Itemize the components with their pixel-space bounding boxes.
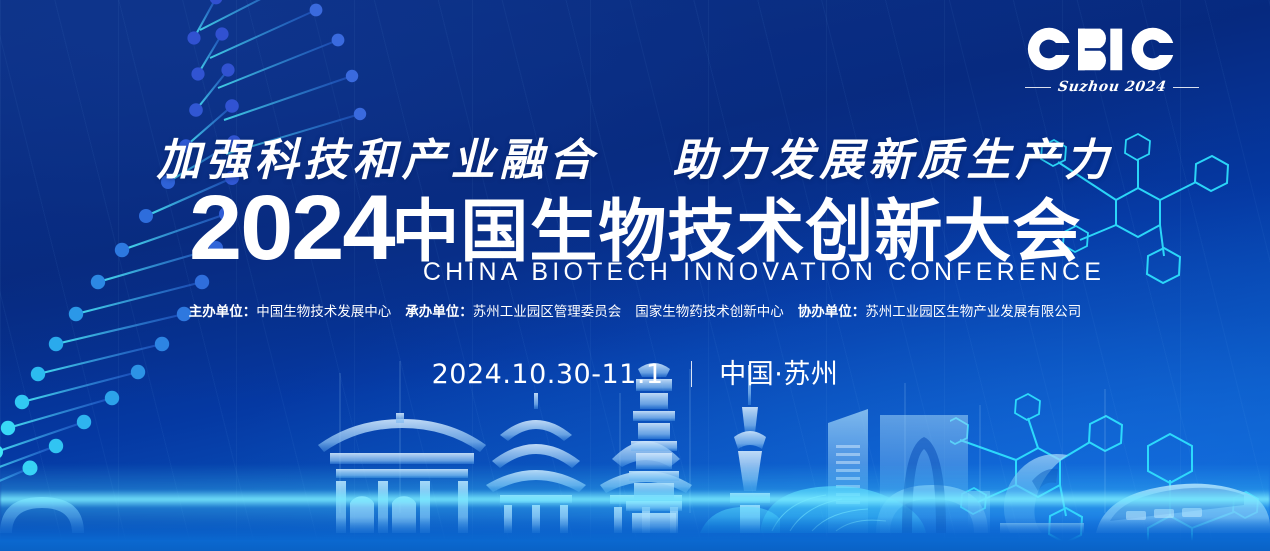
event-date-location: 2024.10.30-11.1 中国·苏州 xyxy=(0,352,1270,391)
title-english: CHINA BIOTECH INNOVATION CONFERENCE xyxy=(0,258,1270,287)
co-organizer-value: 苏州工业园区生物产业发展有限公司 xyxy=(865,304,1081,320)
banner-content: 加强科技和产业融合 助力发展新质生产力 2024 中国生物技术创新大会 CHIN… xyxy=(0,0,1270,551)
organizer-label: 承办单位： xyxy=(405,304,473,320)
event-date: 2024.10.30-11.1 xyxy=(432,359,664,390)
host-label: 主办单位： xyxy=(189,304,257,320)
organizer-value-1: 苏州工业园区管理委员会 xyxy=(473,304,622,320)
event-location: 中国·苏州 xyxy=(719,359,838,390)
organizer-value-2: 国家生物药技术创新中心 xyxy=(635,304,784,320)
host-value: 中国生物技术发展中心 xyxy=(256,304,391,320)
divider xyxy=(691,361,693,387)
tagline-part-2: 助力发展新质生产力 xyxy=(672,135,1113,186)
co-organizer-label: 协办单位： xyxy=(798,304,866,320)
conference-banner: Suzhou 2024 加强科技和产业融合 助力发展新质生产力 2024 中国生… xyxy=(0,0,1270,551)
organizer-line: 主办单位：中国生物技术发展中心承办单位：苏州工业园区管理委员会国家生物药技术创新… xyxy=(0,300,1270,320)
title-chinese: 中国生物技术创新大会 xyxy=(391,199,1081,267)
